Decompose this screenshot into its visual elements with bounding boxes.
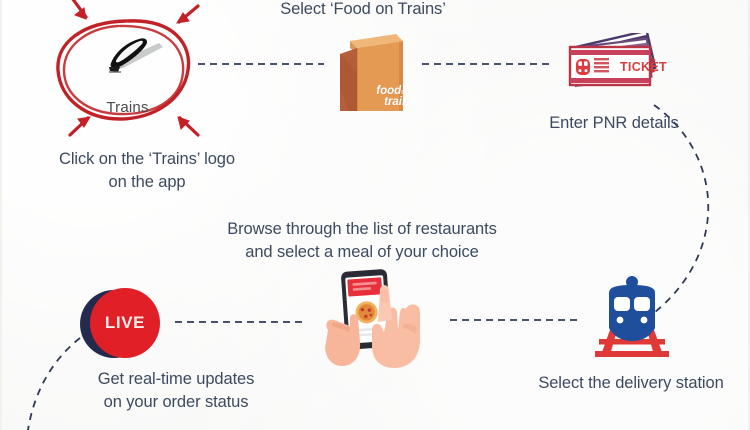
caption-step-5: Browse through the list of restaurants a… (177, 218, 547, 265)
left-hand (325, 314, 360, 366)
arrow-top-left (72, 0, 86, 19)
caption-step-3: Enter PNR details (508, 112, 720, 135)
food-bag-brand-text: foodon train (376, 86, 409, 109)
phone-in-hands-node[interactable] (310, 268, 438, 373)
food-bag-node[interactable]: foodon train (333, 28, 413, 118)
ticket-label: TICKET (620, 60, 667, 74)
caption-step-1: Click on the ‘Trains’ logo on the app (24, 148, 270, 195)
trains-logo-label: Trains (106, 99, 148, 116)
bag-line-1: food (376, 85, 401, 97)
live-badge-circle: LIVE (90, 288, 160, 358)
bag-line-2: train (384, 96, 409, 108)
arrow-top-right (177, 6, 198, 23)
ticket-node[interactable]: TICKET (564, 33, 664, 101)
bag-line-small: on (401, 89, 409, 96)
live-badge-label: LIVE (105, 313, 145, 333)
train-station-node[interactable] (587, 273, 677, 365)
trains-logo-icon (89, 31, 167, 77)
phone-in-hands-icon (310, 268, 438, 373)
trains-logo-node[interactable]: Trains (70, 23, 185, 123)
live-badge-node[interactable]: LIVE (80, 288, 160, 366)
caption-step-2: Select ‘Food on Trains’ (252, 0, 474, 21)
caption-step-4: Select the delivery station (510, 372, 750, 395)
train-station-icon (587, 273, 677, 365)
caption-step-6: Get real-time updates on your order stat… (60, 368, 292, 415)
infographic-canvas: Trains Click on the ‘Trains’ logo on the… (0, 0, 750, 430)
